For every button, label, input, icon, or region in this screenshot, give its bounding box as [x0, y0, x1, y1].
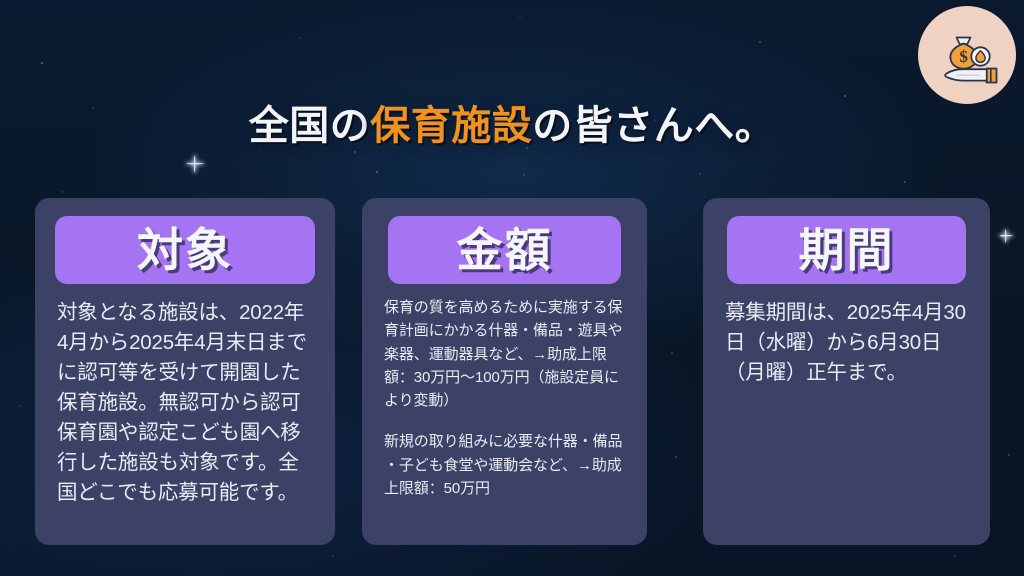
card-target-badge: 対象: [55, 216, 315, 284]
card-target-body: 対象となる施設は、2022年4月から2025年4月末日までに認可等を受けて開園し…: [49, 298, 321, 507]
card-period: 期間 募集期間は、2025年4月30日（水曜）から6月30日（月曜）正午まで。: [703, 198, 990, 545]
card-amount-paragraph: 保育の質を高めるために実施する保育計画にかかる什器・備品・遊具や楽器、運動器具な…: [384, 296, 625, 412]
page-title-highlight: 保育施設: [370, 104, 532, 148]
card-period-badge: 期間: [727, 216, 966, 284]
card-amount-badge-label: 金額: [457, 227, 553, 273]
svg-text:$: $: [959, 47, 968, 66]
card-amount-paragraph: 新規の取り組みに必要な什器・備品 ・子ども食堂や運動会など、→助成上限額：50万…: [384, 430, 625, 500]
paragraph-spacer: [384, 412, 625, 430]
page-title: 全国の保育施設の皆さんへ。: [0, 93, 1024, 151]
card-amount: 金額 保育の質を高めるために実施する保育計画にかかる什器・備品・遊具や楽器、運動…: [362, 198, 647, 545]
card-period-body: 募集期間は、2025年4月30日（水曜）から6月30日（月曜）正午まで。: [717, 298, 976, 388]
sparkle-star-icon: [999, 229, 1012, 242]
page-title-suffix: の皆さんへ。: [532, 104, 775, 148]
page-title-prefix: 全国の: [249, 104, 371, 148]
sparkle-star-icon: [186, 155, 203, 172]
card-target-badge-label: 対象: [137, 227, 233, 273]
card-amount-body: 保育の質を高めるために実施する保育計画にかかる什器・備品・遊具や楽器、運動器具な…: [376, 296, 633, 500]
card-target: 対象 対象となる施設は、2022年4月から2025年4月末日までに認可等を受けて…: [35, 198, 335, 545]
card-amount-badge: 金額: [388, 216, 621, 284]
card-target-paragraph: 対象となる施設は、2022年4月から2025年4月末日までに認可等を受けて開園し…: [57, 298, 313, 507]
money-bag-in-hand-icon: $: [918, 6, 1016, 104]
slide-canvas: 全国の保育施設の皆さんへ。 $ 対象 対象となる施設は、2022年4月から202…: [0, 0, 1024, 576]
card-period-paragraph: 募集期間は、2025年4月30日（水曜）から6月30日（月曜）正午まで。: [725, 298, 968, 388]
card-period-badge-label: 期間: [799, 227, 895, 273]
